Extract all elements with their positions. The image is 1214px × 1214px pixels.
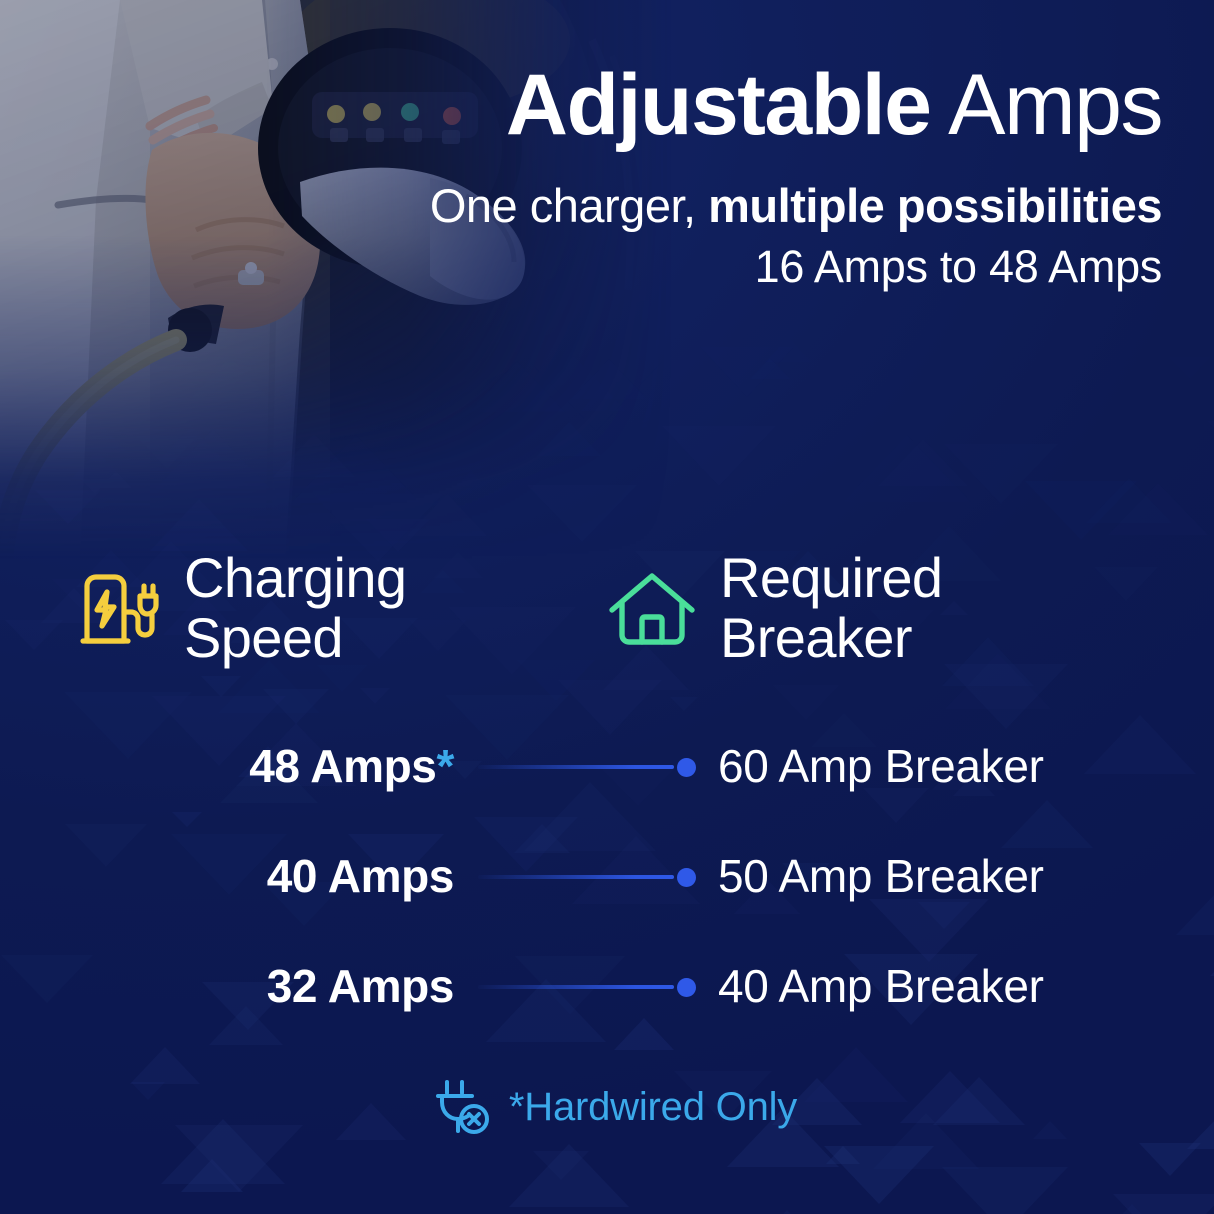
column-header-required-breaker-label: Required Breaker <box>720 548 942 668</box>
amps-label: 32 Amps <box>267 960 454 1012</box>
connector-line-segment <box>478 875 674 879</box>
page-title-bold: Adjustable <box>506 57 931 153</box>
triangle-decoration <box>750 358 790 379</box>
footnote-label: *Hardwired Only <box>509 1085 797 1130</box>
column-header-charging-speed: Charging Speed <box>76 548 406 668</box>
required-breaker-value: 60 Amp Breaker <box>718 740 1044 792</box>
triangle-decoration <box>1139 1143 1201 1176</box>
table-row: 40 Amps50 Amp Breaker <box>0 850 1214 960</box>
triangle-decoration <box>1169 357 1211 379</box>
connector-line <box>478 868 700 886</box>
ev-charging-station-icon <box>76 566 162 657</box>
charging-speed-value: 32 Amps <box>34 960 454 1012</box>
required-breaker-value: 50 Amp Breaker <box>718 850 1044 902</box>
triangle-decoration <box>942 1167 1068 1214</box>
triangle-decoration <box>746 1210 828 1214</box>
amps-breaker-table: 48 Amps*60 Amp Breaker40 Amps50 Amp Brea… <box>0 740 1214 1070</box>
no-plug-icon <box>429 1074 491 1141</box>
table-row: 48 Amps*60 Amp Breaker <box>0 740 1214 850</box>
hero-subtitle-bold: multiple possibilities <box>708 179 1162 232</box>
column-header-charging-speed-label: Charging Speed <box>184 548 406 668</box>
hero-text-block: Adjustable Amps One charger, multiple po… <box>0 62 1162 292</box>
connector-dot <box>677 978 696 997</box>
hero-amp-range: 16 Amps to 48 Amps <box>0 241 1162 293</box>
footnote: *Hardwired Only <box>0 1074 1214 1141</box>
column-headers: Charging Speed Required Breaker <box>0 548 1214 708</box>
required-breaker-value: 40 Amp Breaker <box>718 960 1044 1012</box>
amps-label: 40 Amps <box>267 850 454 902</box>
connector-dot <box>677 758 696 777</box>
connector-dot <box>677 868 696 887</box>
connector-line-segment <box>478 985 674 989</box>
charging-speed-value: 48 Amps* <box>34 740 454 792</box>
infographic-canvas: Adjustable Amps One charger, multiple po… <box>0 0 1214 1214</box>
hero-subtitle-light: One charger, <box>430 179 708 232</box>
page-title: Adjustable Amps <box>0 62 1162 148</box>
hero-subtitle: One charger, multiple possibilities <box>0 180 1162 233</box>
column-header-required-breaker: Required Breaker <box>606 548 942 668</box>
triangle-decoration <box>1207 421 1214 486</box>
connector-line-segment <box>478 765 674 769</box>
charging-speed-value: 40 Amps <box>34 850 454 902</box>
triangle-decoration <box>1086 478 1172 523</box>
triangle-decoration <box>1096 1204 1168 1214</box>
connector-line <box>478 758 700 776</box>
triangle-decoration <box>533 1151 589 1180</box>
table-row: 32 Amps40 Amp Breaker <box>0 960 1214 1070</box>
triangle-decoration <box>843 435 971 502</box>
page-title-light: Amps <box>931 57 1162 153</box>
amps-label: 48 Amps <box>249 740 436 792</box>
house-icon <box>606 566 698 657</box>
connector-line <box>478 978 700 996</box>
hardwired-asterisk: * <box>436 740 454 792</box>
